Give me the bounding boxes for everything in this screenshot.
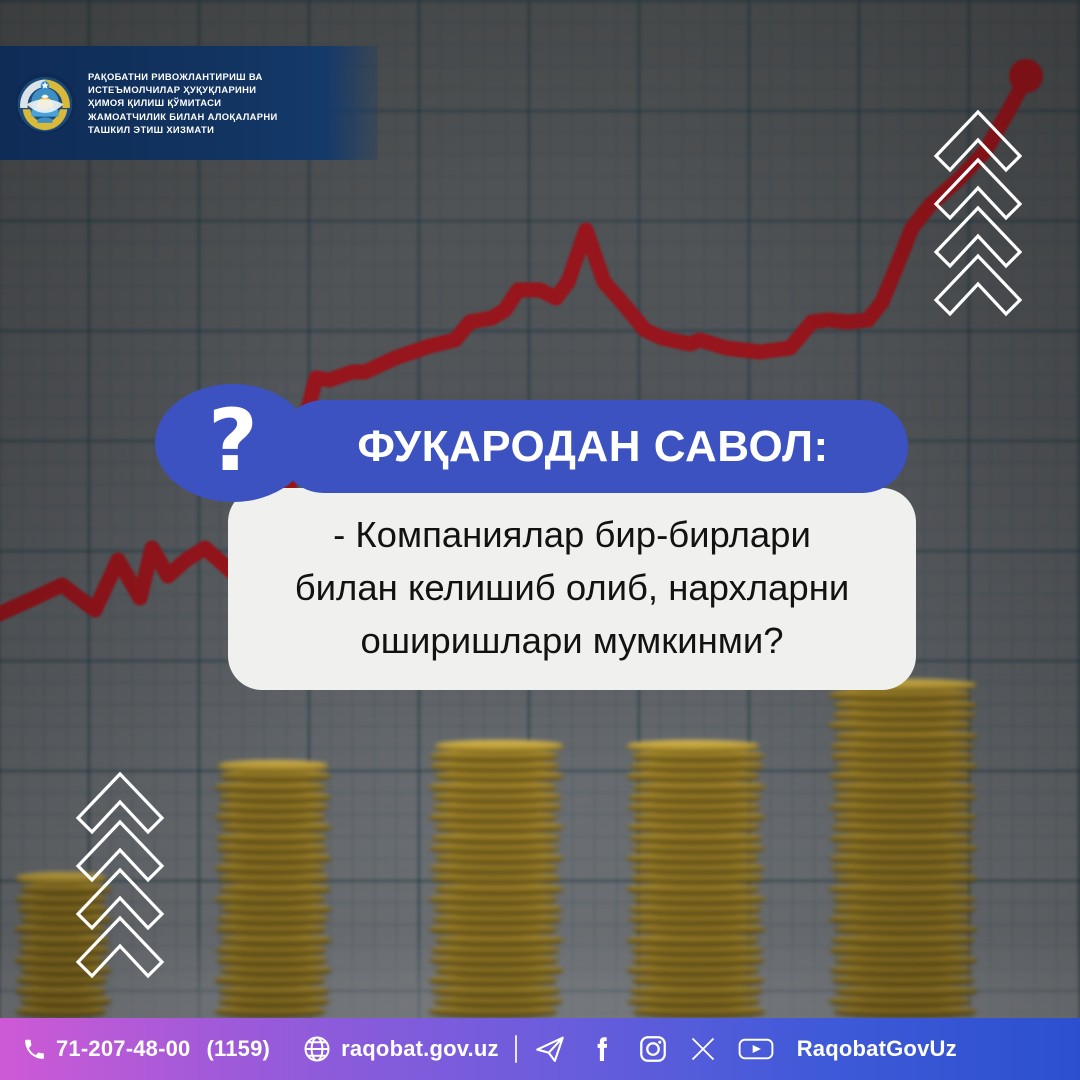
org-line: ТАШКИЛ ЭТИШ ХИЗМАТИ [88, 123, 278, 136]
footer-divider [515, 1035, 517, 1063]
chevron-group-bottom-left [72, 762, 168, 972]
question-line: - Компаниялар бир-бирлари [333, 508, 811, 561]
org-line: РАҚОБАТНИ РИВОЖЛАНТИРИШ ВА [88, 70, 278, 83]
question-mark-badge: ? [155, 384, 311, 502]
phone-icon [22, 1037, 47, 1062]
question-line: билан келишиб олиб, нархларни [295, 561, 849, 614]
org-line: ЖАМОАТЧИЛИК БИЛАН АЛОҚАЛАРНИ [88, 110, 278, 123]
question-mark-icon: ? [208, 398, 258, 484]
x-twitter-icon[interactable] [688, 1034, 718, 1064]
question-title-text: ФУҚАРОДАН САВОЛ: [357, 422, 828, 472]
phone-contact[interactable]: 71-207-48-00 (1159) [22, 1036, 270, 1062]
question-line: оширишлари мумкинми? [360, 614, 783, 667]
question-title-banner: ФУҚАРОДАН САВОЛ: [278, 400, 908, 493]
chevron-group-top-right [930, 100, 1026, 310]
telegram-icon[interactable] [533, 1032, 567, 1066]
phone-number: 71-207-48-00 [56, 1036, 191, 1062]
uzbekistan-state-emblem [14, 72, 76, 134]
website-link[interactable]: raqobat.gov.uz [302, 1034, 499, 1064]
footer-bar: 71-207-48-00 (1159) raqobat.gov.uz [0, 1018, 1080, 1080]
instagram-icon[interactable] [637, 1033, 669, 1065]
globe-icon [302, 1034, 332, 1064]
social-icons-group [533, 1032, 775, 1066]
youtube-icon[interactable] [737, 1034, 775, 1064]
website-url: raqobat.gov.uz [341, 1036, 499, 1062]
organization-name: РАҚОБАТНИ РИВОЖЛАНТИРИШ ВА ИСТЕЪМОЛЧИЛАР… [88, 70, 278, 135]
question-card: - Компаниялар бир-бирлари билан келишиб … [228, 488, 916, 690]
short-code: (1159) [207, 1036, 271, 1062]
facebook-icon[interactable] [586, 1033, 618, 1065]
org-line: ҲИМОЯ ҚИЛИШ ҚЎМИТАСИ [88, 96, 278, 109]
org-line: ИСТЕЪМОЛЧИЛАР ҲУҚУҚЛАРИНИ [88, 83, 278, 96]
poster-canvas: РАҚОБАТНИ РИВОЖЛАНТИРИШ ВА ИСТЕЪМОЛЧИЛАР… [0, 0, 1080, 1080]
social-handle: RaqobatGovUz [797, 1036, 957, 1062]
header-bar: РАҚОБАТНИ РИВОЖЛАНТИРИШ ВА ИСТЕЪМОЛЧИЛАР… [0, 46, 378, 160]
